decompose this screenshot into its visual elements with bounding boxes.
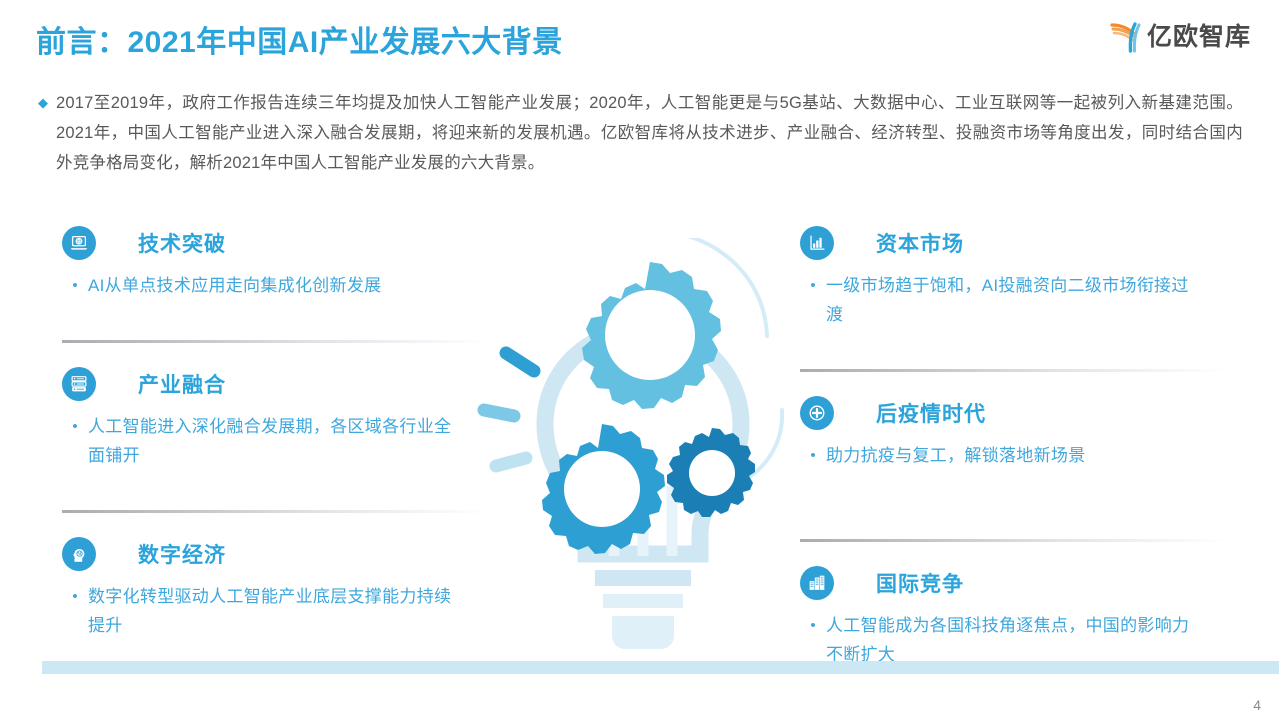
item-title: 产业融合 xyxy=(138,369,226,399)
section-divider xyxy=(62,510,492,513)
bullet-dot-icon: • xyxy=(62,582,88,611)
diamond-bullet-icon: ◆ xyxy=(38,88,48,118)
left-column: 技术突破 • AI从单点技术应用走向集成化创新发展 xyxy=(62,222,492,640)
item-title: 国际竞争 xyxy=(876,568,964,598)
intro-text: 2017至2019年，政府工作报告连续三年均提及加快人工智能产业发展；2020年… xyxy=(56,88,1243,178)
slide-header: 前言：2021年中国AI产业发展六大背景 亿欧智库 xyxy=(0,0,1279,72)
section-divider xyxy=(800,369,1230,372)
item-title: 资本市场 xyxy=(876,228,964,258)
brain-head-icon xyxy=(62,537,96,571)
bullet-dot-icon: • xyxy=(62,412,88,441)
item-title: 后疫情时代 xyxy=(876,398,986,428)
section-divider xyxy=(800,539,1230,542)
slide-root: 前言：2021年中国AI产业发展六大背景 亿欧智库 ◆ 2017至2019年，政… xyxy=(0,0,1279,719)
item-bullet-text: AI从单点技术应用走向集成化创新发展 xyxy=(88,271,381,300)
item-bullet-text: 人工智能进入深化融合发展期，各区域各行业全面铺开 xyxy=(88,412,460,470)
laptop-globe-icon xyxy=(62,226,96,260)
server-rack-icon xyxy=(62,367,96,401)
intro-paragraph: ◆ 2017至2019年，政府工作报告连续三年均提及加快人工智能产业发展；202… xyxy=(38,88,1243,178)
item-international-competition[interactable]: 国际竞争 • 人工智能成为各国科技角逐焦点，中国的影响力不断扩大 xyxy=(800,562,1230,669)
page-number: 4 xyxy=(1253,697,1261,713)
item-bullet-text: 数字化转型驱动人工智能产业底层支撑能力持续提升 xyxy=(88,582,460,640)
brand-logo: 亿欧智库 xyxy=(1108,18,1251,56)
right-column: 资本市场 • 一级市场趋于饱和，AI投融资向二级市场衔接过渡 后疫情时代 xyxy=(800,222,1230,669)
item-digital-economy[interactable]: 数字经济 • 数字化转型驱动人工智能产业底层支撑能力持续提升 xyxy=(62,533,492,640)
section-divider xyxy=(62,340,492,343)
item-post-pandemic-era[interactable]: 后疫情时代 • 助力抗疫与复工，解锁落地新场景 xyxy=(800,392,1230,542)
yiou-y-logo-icon xyxy=(1108,20,1142,54)
item-title: 技术突破 xyxy=(138,228,226,258)
item-industry-integration[interactable]: 产业融合 • 人工智能进入深化融合发展期，各区域各行业全面铺开 xyxy=(62,363,492,513)
page-title: 前言：2021年中国AI产业发展六大背景 xyxy=(36,17,563,61)
item-capital-market[interactable]: 资本市场 • 一级市场趋于饱和，AI投融资向二级市场衔接过渡 xyxy=(800,222,1230,372)
item-tech-breakthrough[interactable]: 技术突破 • AI从单点技术应用走向集成化创新发展 xyxy=(62,222,492,343)
logo-text: 亿欧智库 xyxy=(1147,25,1251,50)
lightbulb-with-gears-illustration xyxy=(462,238,822,684)
large-gear xyxy=(582,262,721,409)
item-bullet-text: 一级市场趋于饱和，AI投融资向二级市场衔接过渡 xyxy=(826,271,1198,329)
bullet-dot-icon: • xyxy=(62,271,88,300)
footer-bar xyxy=(42,661,1279,674)
item-title: 数字经济 xyxy=(138,539,226,569)
item-bullet-text: 助力抗疫与复工，解锁落地新场景 xyxy=(826,441,1086,470)
